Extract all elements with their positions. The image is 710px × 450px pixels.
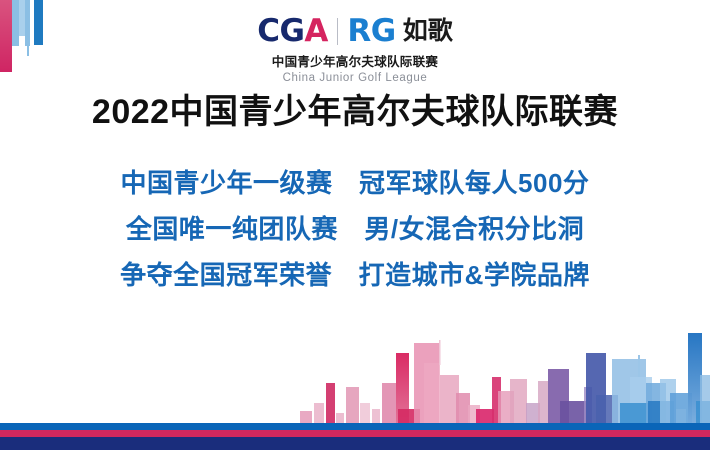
cga-logo-accent: A <box>304 13 328 49</box>
stripe-navy <box>0 437 710 450</box>
stripe-crimson <box>0 430 710 437</box>
rg-logo-text: RG <box>347 16 395 47</box>
feature-line-1: 中国青少年一级赛 冠军球队每人500分 <box>0 160 710 206</box>
cga-logo-text: CGA <box>257 16 328 47</box>
rugo-logo-text: 如歌 <box>403 19 453 44</box>
logo-wordmark: CGA RG 如歌 <box>257 16 453 47</box>
page-title: 2022中国青少年高尔夫球队际联赛 <box>0 94 710 131</box>
stripe-blue <box>0 423 710 430</box>
feature-line-2: 全国唯一纯团队赛 男/女混合积分比洞 <box>0 206 710 252</box>
cga-logo-main: CG <box>257 13 304 49</box>
feature-list: 中国青少年一级赛 冠军球队每人500分 全国唯一纯团队赛 男/女混合积分比洞 争… <box>0 160 710 298</box>
logo-english-name: China Junior Golf League <box>0 72 710 84</box>
logo-chinese-name: 中国青少年高尔夫球队际联赛 <box>0 51 710 70</box>
poster-canvas: CGA RG 如歌 中国青少年高尔夫球队际联赛 China Junior Gol… <box>0 0 710 450</box>
logo-block: CGA RG 如歌 中国青少年高尔夫球队际联赛 China Junior Gol… <box>0 16 710 84</box>
bottom-stripes <box>0 423 710 450</box>
skyline-svg <box>0 283 710 423</box>
skyline-graphic <box>0 283 710 423</box>
logo-divider <box>337 18 339 45</box>
